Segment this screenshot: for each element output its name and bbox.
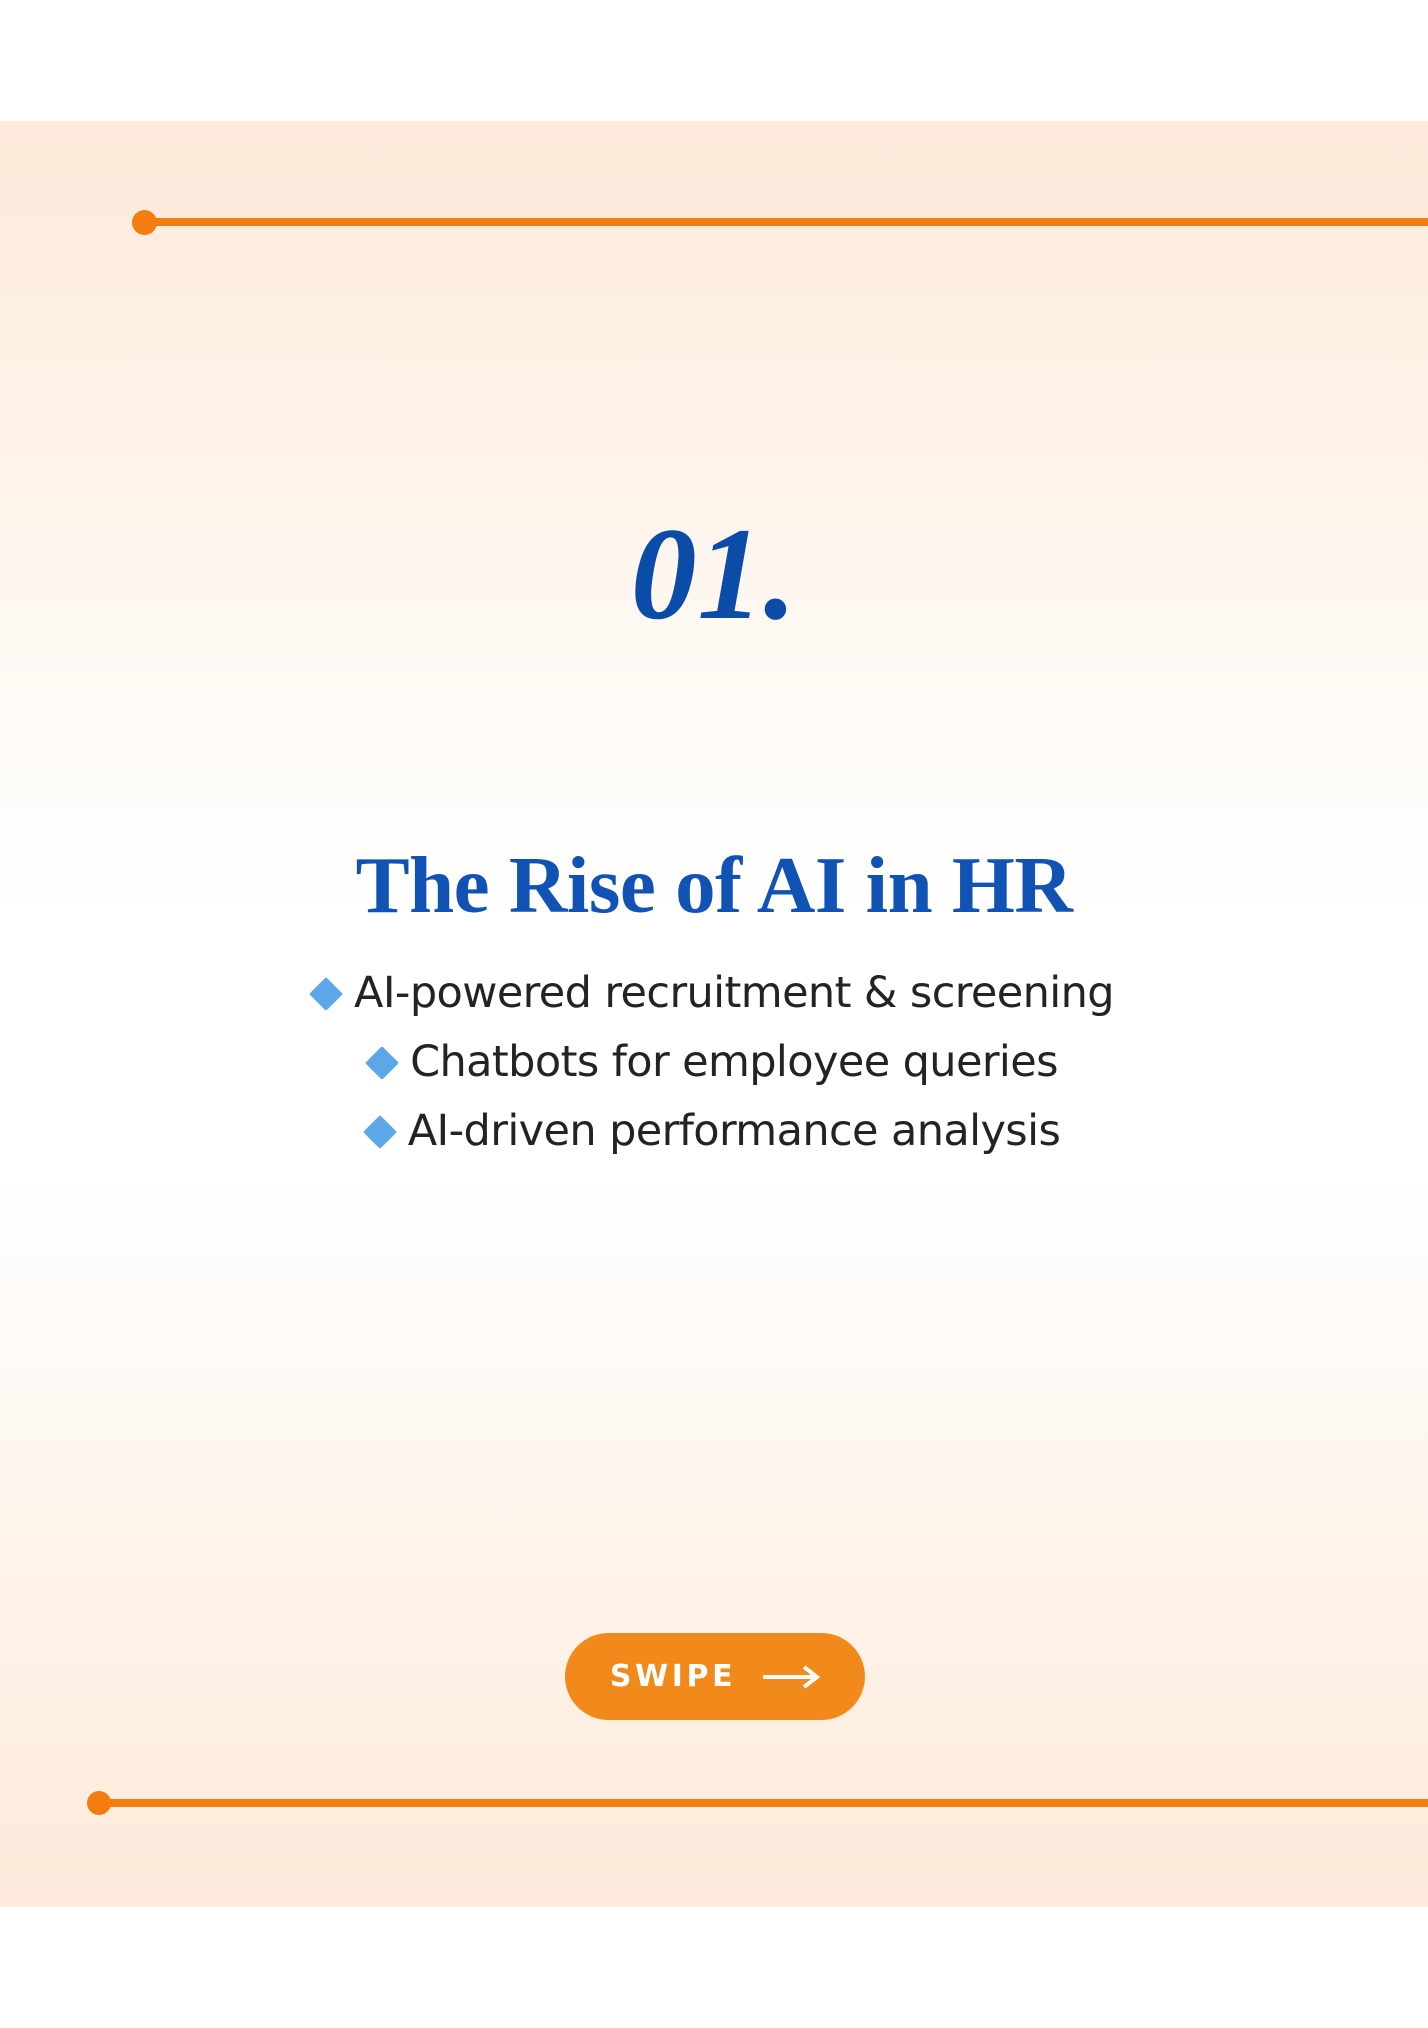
swipe-button-label: SWIPE	[610, 1662, 736, 1692]
list-item: AI-driven performance analysis	[368, 1101, 1061, 1162]
list-item-label: AI-driven performance analysis	[408, 1101, 1061, 1162]
page-title: The Rise of AI in HR	[0, 842, 1428, 929]
diamond-bullet-icon	[363, 1115, 397, 1149]
diamond-bullet-icon	[309, 977, 343, 1011]
bullet-list: AI-powered recruitment & screening Chatb…	[0, 963, 1428, 1162]
slide-content: 01. The Rise of AI in HR AI-powered recr…	[0, 0, 1428, 2028]
diamond-bullet-icon	[365, 1046, 399, 1080]
list-item-label: AI-powered recruitment & screening	[354, 963, 1114, 1024]
swipe-button[interactable]: SWIPE	[565, 1633, 865, 1720]
slide-canvas: 01. The Rise of AI in HR AI-powered recr…	[0, 0, 1428, 2028]
list-item-label: Chatbots for employee queries	[410, 1032, 1058, 1093]
list-item: AI-powered recruitment & screening	[314, 963, 1114, 1024]
arrow-right-icon	[762, 1665, 820, 1689]
list-item: Chatbots for employee queries	[370, 1032, 1058, 1093]
slide-number: 01.	[0, 508, 1428, 640]
